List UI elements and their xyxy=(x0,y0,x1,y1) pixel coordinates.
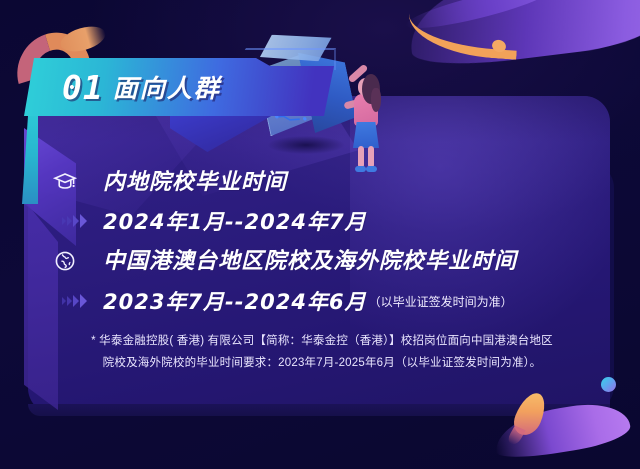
section-number: 01 xyxy=(62,68,104,107)
chevron-triple-right-icon xyxy=(62,214,87,228)
chevron-triple-right-icon xyxy=(62,294,87,308)
section-date-row-2: 2023年7月--2024年6月 （以毕业证签发时间为准） xyxy=(62,286,513,316)
section-heading-row-2: 中国港澳台地区院校及海外院校毕业时间 xyxy=(52,243,520,279)
footnote-line-2: 院校及海外院校的毕业时间要求：2023年7月-2025年6月（以毕业证签发时间为… xyxy=(62,352,582,374)
poster-canvas: 01 面向人群 内地院校毕业时间 2024年1月--2024年7月 xyxy=(0,0,640,469)
gradient-dot-decoration xyxy=(601,377,616,392)
section-title: 面向人群 xyxy=(113,69,221,105)
section-date-1: 2024年1月--2024年7月 xyxy=(103,206,367,236)
graduation-cap-icon xyxy=(52,169,78,195)
footnote-line-1: * 华泰金融控股( 香港) 有限公司【简称：华泰金控（香港）】校招岗位面向中国港… xyxy=(62,330,582,352)
globe-icon xyxy=(52,248,78,274)
section-date-2: 2023年7月--2024年6月 xyxy=(103,286,367,316)
section-heading-row-1: 内地院校毕业时间 xyxy=(52,164,290,200)
section-heading-1: 内地院校毕业时间 xyxy=(100,164,290,200)
section-heading-2: 中国港澳台地区院校及海外院校毕业时间 xyxy=(100,243,520,279)
section-date-note-2: （以毕业证签发时间为准） xyxy=(369,293,513,310)
section-date-row-1: 2024年1月--2024年7月 xyxy=(62,206,367,236)
footnote: * 华泰金融控股( 香港) 有限公司【简称：华泰金控（香港）】校招岗位面向中国港… xyxy=(62,330,582,374)
section-banner-text: 01 面向人群 xyxy=(24,58,334,116)
